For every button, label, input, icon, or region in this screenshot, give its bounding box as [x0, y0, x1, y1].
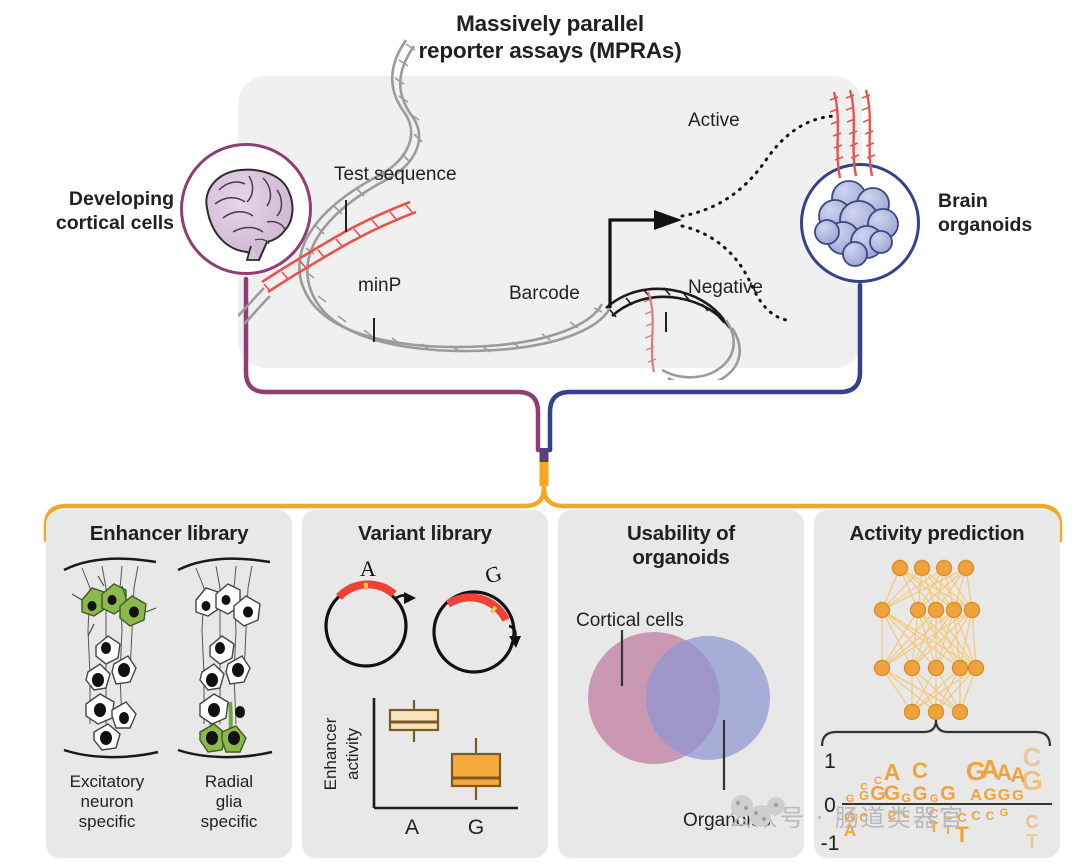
venn-label-cortical-cells: Cortical cells	[576, 610, 684, 632]
plasmid-g-allele-label: G	[482, 560, 505, 589]
panel-enhancer-library: Enhancer library	[46, 510, 292, 858]
boxplot-xtick-a: A	[405, 816, 419, 839]
boxplot-box-g	[452, 738, 500, 800]
panel-activity-prediction-title: Activity prediction	[814, 522, 1060, 546]
input-right-line2: organoids	[938, 214, 1078, 238]
boxplot-box-a	[390, 700, 438, 742]
svg-text:C: C	[874, 775, 882, 787]
transcription-arrow	[610, 220, 658, 308]
svg-text:C: C	[971, 808, 981, 823]
svg-text:C: C	[860, 782, 867, 793]
column-excitatory-neuron	[64, 559, 158, 757]
enhancer-col-2-line1: Radial	[172, 772, 286, 792]
input-left-line1: Developing	[18, 188, 174, 212]
plasmid-allele-a	[326, 584, 416, 666]
svg-text:A: A	[970, 787, 982, 804]
enhancer-col-1-line3: specific	[50, 812, 164, 832]
barcode-label: Barcode	[509, 283, 580, 305]
input-left-line2: cortical cells	[18, 212, 174, 236]
excitatory-cells-highlight	[72, 576, 156, 636]
enhancer-col-2-line2: glia	[172, 792, 286, 812]
panel-variant-library: Variant library A G	[302, 510, 548, 858]
figure-root: Massively parallel reporter assays (MPRA…	[0, 0, 1080, 867]
arrow-head-icon	[654, 210, 682, 230]
active-rna-strands	[834, 90, 878, 178]
svg-text:C: C	[912, 758, 928, 783]
panel-usability-title-line1: Usability of	[558, 522, 804, 546]
svg-text:G: G	[1000, 807, 1009, 819]
neural-network-diagram	[875, 561, 984, 720]
enhancer-col-2-label: Radial glia specific	[172, 772, 286, 832]
variant-boxplot-chart: A G Enhancer activity	[312, 692, 538, 848]
negative-label: Negative	[688, 277, 763, 299]
panel-variant-library-title: Variant library	[302, 522, 548, 546]
plasmid-allele-g	[434, 592, 521, 672]
svg-text:C: C	[1023, 742, 1042, 772]
enhancer-col-1-label: Excitatory neuron specific	[50, 772, 164, 832]
cortical-column-illustrations	[54, 554, 284, 784]
test-sequence-label: Test sequence	[334, 164, 457, 186]
brain-organoids-label: Brain organoids	[938, 190, 1078, 238]
plasmid-diagrams: A G	[306, 554, 544, 684]
enhancer-col-1-line1: Excitatory	[50, 772, 164, 792]
column-radial-glia	[178, 559, 272, 757]
watermark-logo-icon	[726, 790, 788, 834]
svg-text:A: A	[884, 759, 901, 785]
mpra-construct-diagram	[238, 20, 878, 380]
boxplot-ylabel-line2: activity	[343, 728, 362, 780]
svg-text:G: G	[983, 785, 996, 804]
svg-text:C: C	[1026, 812, 1039, 832]
panel-usability-title: Usability of organoids	[558, 522, 804, 570]
svg-text:G: G	[998, 787, 1010, 804]
boxplot-ylabel-line1: Enhancer	[321, 717, 340, 790]
enhancer-col-1-line2: neuron	[50, 792, 164, 812]
svg-text:T: T	[1026, 831, 1038, 853]
developing-cortical-cells-label: Developing cortical cells	[18, 188, 174, 236]
svg-text:C: C	[986, 809, 995, 823]
venn-circle-organoids	[646, 636, 770, 760]
plasmid-a-allele-label: A	[360, 556, 376, 581]
seqlogo-ytick-neg1: -1	[821, 832, 840, 855]
panel-enhancer-library-title: Enhancer library	[46, 522, 292, 546]
seqlogo-ytick-1: 1	[824, 750, 836, 773]
enhancer-col-2-line3: specific	[172, 812, 286, 832]
panel-usability-title-line2: organoids	[558, 546, 804, 570]
boxplot-xtick-g: G	[468, 816, 484, 839]
input-right-line1: Brain	[938, 190, 1078, 214]
brace-icon	[822, 720, 1050, 746]
active-label: Active	[688, 110, 740, 132]
minp-label: minP	[358, 275, 401, 297]
